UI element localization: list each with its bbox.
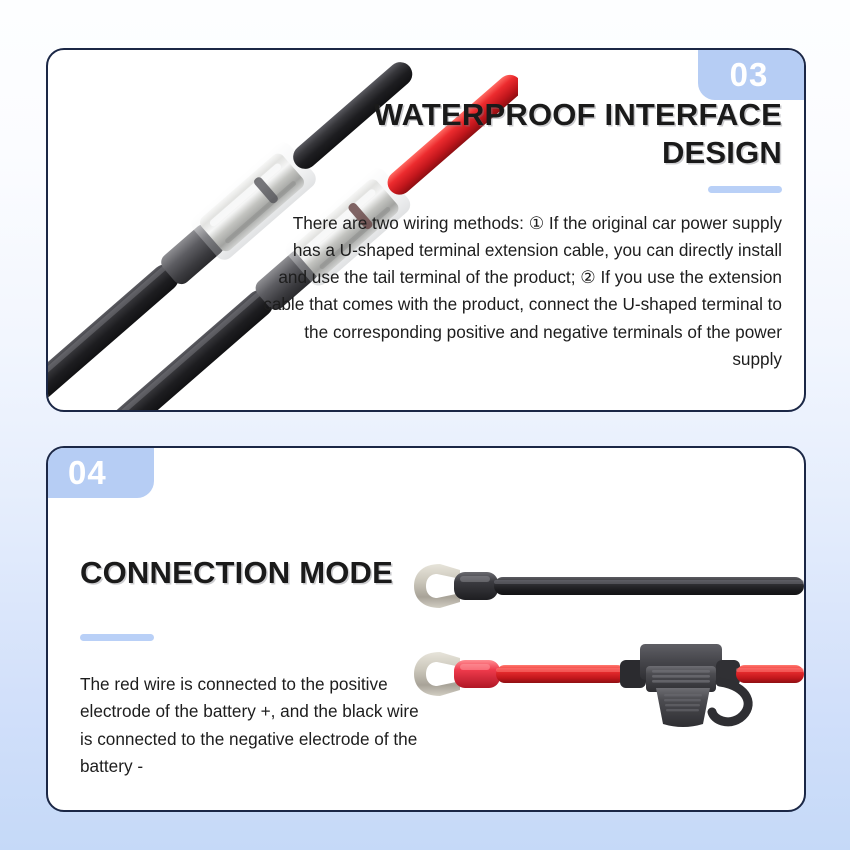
waterproof-divider: [708, 186, 782, 193]
section-number-badge-03: 03: [698, 50, 804, 100]
waterproof-text-block: WATERPROOF INTERFACE DESIGN There are tw…: [262, 96, 782, 390]
red-wire-branch: [414, 644, 804, 727]
section-number-03: 03: [730, 56, 769, 94]
connection-mode-body-text: The red wire is connected to the positiv…: [80, 671, 430, 780]
card-waterproof-interface: 03 WATERPROOF INTERFACE DESIGN There are…: [46, 48, 806, 412]
connection-mode-title: CONNECTION MODE: [80, 554, 393, 592]
connection-mode-divider: [80, 634, 154, 641]
section-number-04: 04: [68, 454, 107, 492]
section-number-badge-04: 04: [48, 448, 154, 498]
wiring-harness-illustration: [404, 548, 804, 748]
waterproof-body-text: There are two wiring methods: ① If the o…: [262, 210, 782, 373]
infographic-page: 03 WATERPROOF INTERFACE DESIGN There are…: [0, 0, 850, 850]
card-connection-mode: 04 CONNECTION MODE The red wire is conne…: [46, 446, 806, 812]
waterproof-title: WATERPROOF INTERFACE DESIGN: [262, 96, 782, 172]
black-wire-branch: [414, 564, 804, 608]
inline-fuse-holder: [620, 644, 748, 727]
fork-terminal-fuse-photo: [404, 548, 804, 748]
